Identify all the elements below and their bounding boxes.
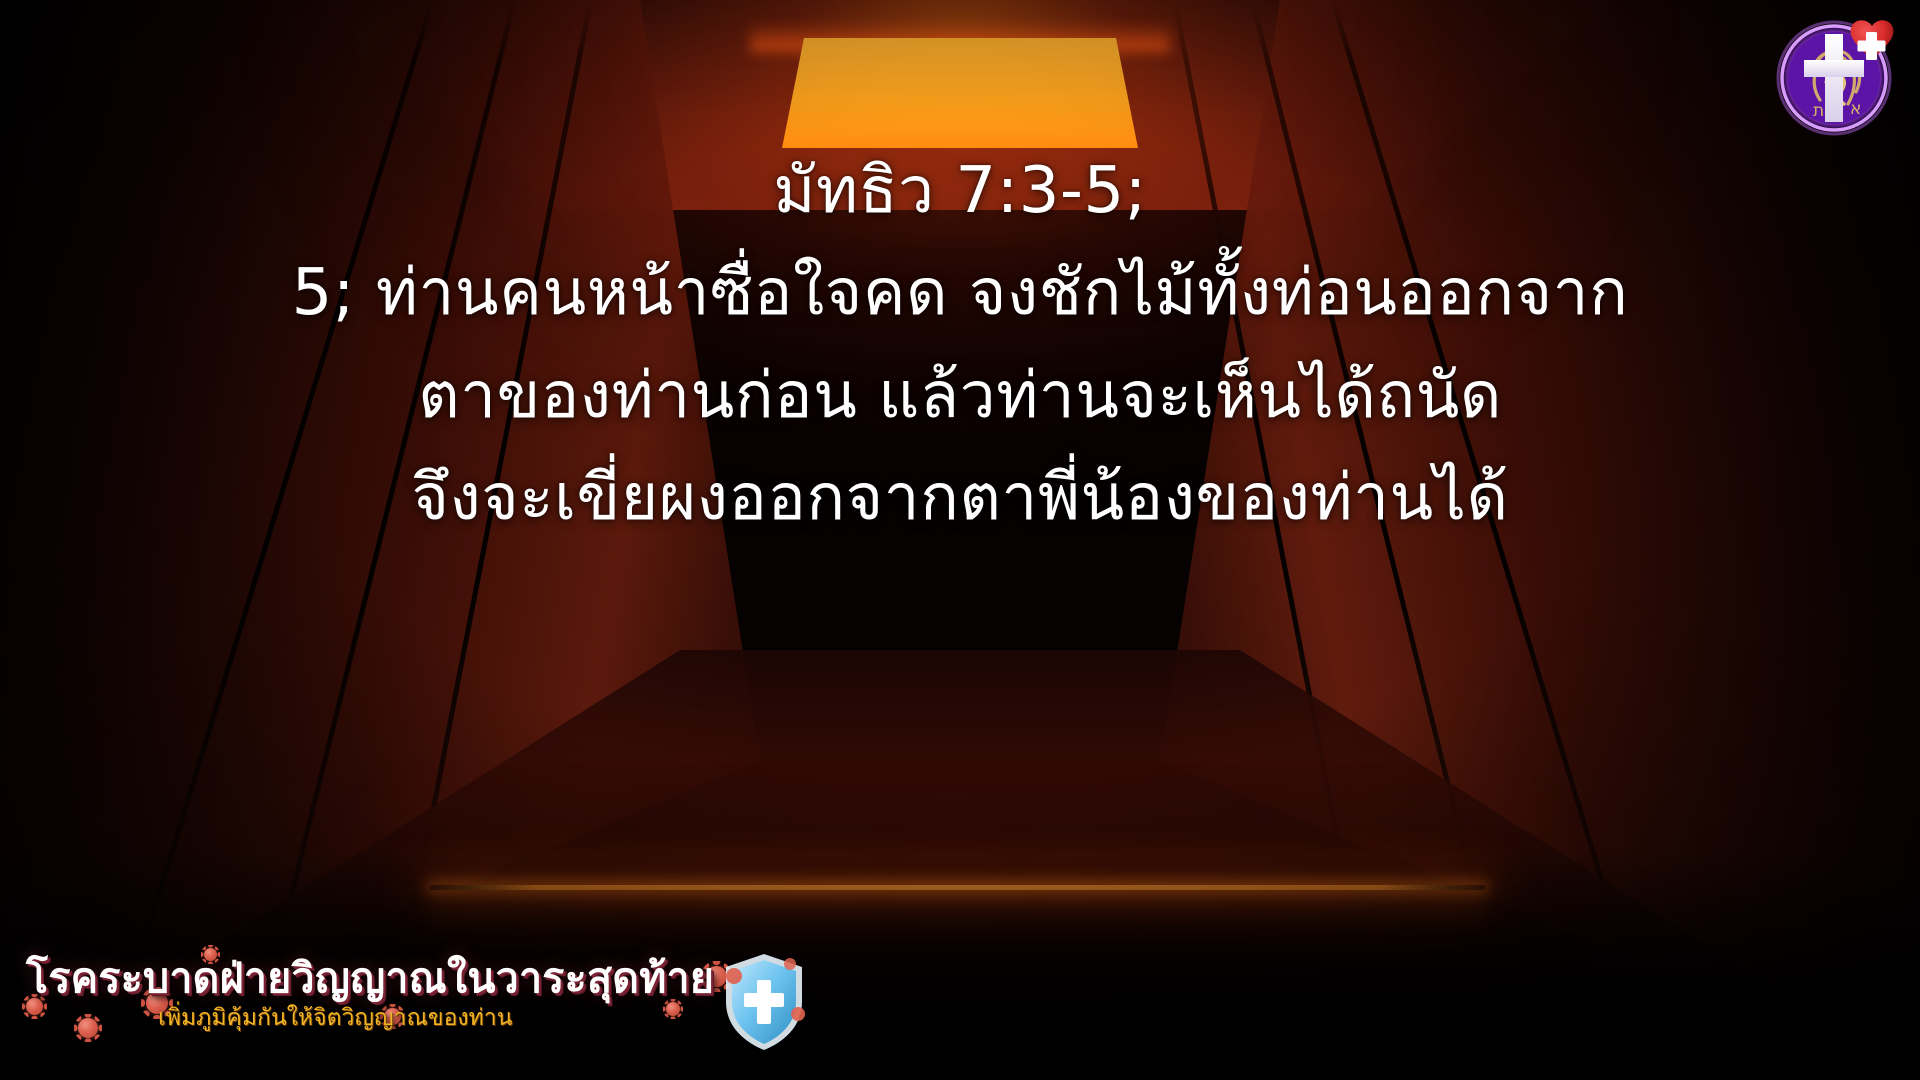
overhead-light-panel [782, 38, 1138, 148]
shield-icon [718, 950, 810, 1054]
hebrew-aleph-letter: א [1850, 99, 1861, 119]
neon-glow-strip [430, 885, 1485, 890]
slide-canvas: มัทธิว 7:3-5; 5; ท่านคนหน้าซื่อใจคด จงชั… [0, 0, 1920, 1080]
ministry-logo[interactable]: ת א [1772, 8, 1902, 142]
virus-icon [78, 1018, 98, 1038]
branding-block: โรคระบาดฝ่ายวิญญาณในวาระสุดท้าย เพิ่มภูม… [18, 944, 808, 1062]
ministry-logo-icon: ת א [1772, 8, 1902, 142]
branding-subtitle: เพิ่มภูมิคุ้มกันให้จิตวิญญาณของท่าน [158, 1000, 512, 1036]
scripture-text: มัทธิว 7:3-5; 5; ท่านคนหน้าซื่อใจคด จงชั… [0, 140, 1920, 550]
verse-line-4: จึงจะเขี่ยผงออกจากตาพี่น้องของท่านได้ [0, 447, 1920, 549]
verse-line-3: ตาของท่านก่อน แล้วท่านจะเห็นได้ถนัด [0, 345, 1920, 447]
hebrew-tav-letter: ת [1813, 101, 1824, 121]
verse-line-1: มัทธิว 7:3-5; [0, 140, 1920, 242]
verse-line-2: 5; ท่านคนหน้าซื่อใจคด จงชักไม้ทั้งท่อนออ… [0, 242, 1920, 344]
